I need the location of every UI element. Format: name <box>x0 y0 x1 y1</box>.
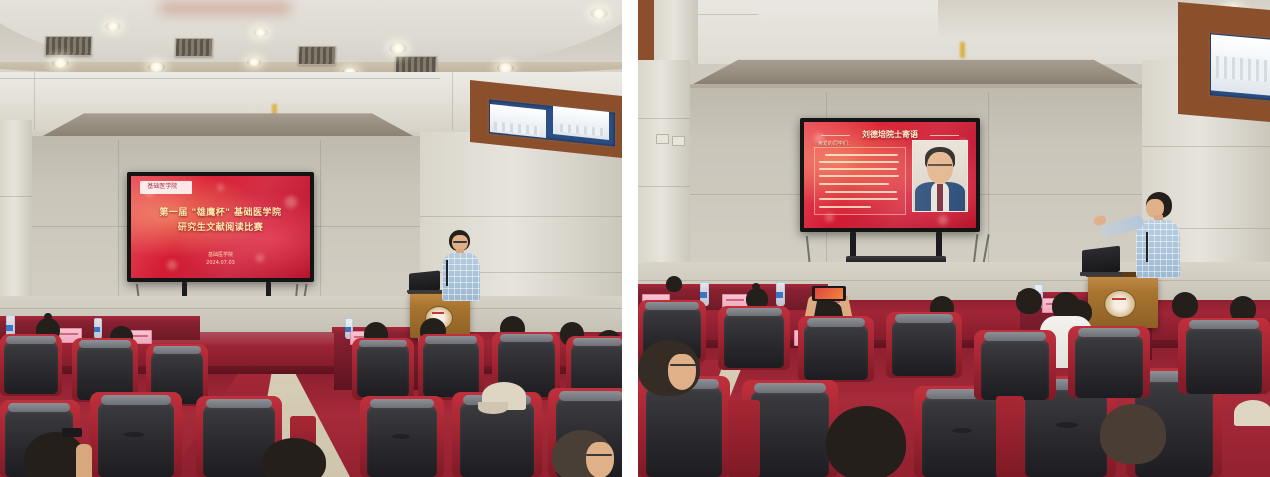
seat <box>974 330 1056 400</box>
ceiling-light <box>247 58 261 66</box>
slide-body-line <box>819 168 897 170</box>
seat <box>1178 318 1270 394</box>
seat-headrest <box>101 395 171 405</box>
photo-left: 基础医学院 第一届 "雄鹰杯" 基础医学院 研究生文献阅读比赛 基础医学院 20… <box>0 0 622 477</box>
slide-body-line <box>825 154 898 156</box>
slide-body-line <box>819 206 871 208</box>
seat-headrest <box>895 314 953 323</box>
slide-body-box <box>814 147 905 215</box>
wall-seam <box>0 78 440 79</box>
seat-back-panel <box>4 342 58 394</box>
seat-headrest <box>573 338 622 346</box>
seat-back-panel <box>1186 328 1262 394</box>
bottle-label <box>94 327 100 332</box>
seat-back-panel <box>922 398 1002 477</box>
seat <box>798 316 874 382</box>
wall-seam-vertical <box>452 72 453 130</box>
bottle-label <box>700 292 707 298</box>
foreground-attendee <box>1100 404 1178 477</box>
portrait-glasses <box>928 164 951 166</box>
wall-outlet <box>656 134 669 144</box>
title-rule-right <box>930 135 959 136</box>
air-vent <box>175 38 214 57</box>
seat-back-panel <box>423 342 479 397</box>
seat-notch <box>952 428 972 433</box>
photo-pair-page: 基础医学院 第一届 "雄鹰杯" 基础医学院 研究生文献阅读比赛 基础医学院 20… <box>0 0 1270 477</box>
alcove-seam-v <box>320 140 321 306</box>
attendee-head <box>1100 404 1166 464</box>
seat-notch <box>1056 422 1078 428</box>
attendee-face <box>586 442 614 477</box>
podium-microphone <box>1146 232 1148 262</box>
photo-gutter <box>622 0 638 477</box>
seat-back-panel <box>357 345 409 397</box>
presentation-screen[interactable]: 基础医学院 第一届 "雄鹰杯" 基础医学院 研究生文献阅读比赛 基础医学院 20… <box>127 172 314 282</box>
seat-headrest <box>8 403 70 412</box>
phone <box>62 428 82 437</box>
foreground-attendee-glasses <box>638 340 716 412</box>
seat-headrest <box>6 336 56 344</box>
seat-back-panel <box>1025 389 1107 477</box>
alcove-seam-v <box>118 140 119 306</box>
seat-headrest <box>425 336 477 344</box>
attendee-head <box>262 438 326 477</box>
seat <box>418 334 484 400</box>
portrait-photo <box>912 140 967 212</box>
seat-headrest <box>1189 320 1259 329</box>
air-vent <box>298 46 337 65</box>
seat <box>718 306 790 370</box>
wall-seam <box>638 118 690 119</box>
seat-back-panel <box>724 314 784 368</box>
foreground-attendee <box>1234 400 1270 477</box>
screen-surface: 基础医学院 第一届 "雄鹰杯" 基础医学院 研究生文献阅读比赛 基础医学院 20… <box>131 176 310 278</box>
seat <box>352 338 414 400</box>
ceiling-light <box>105 22 121 31</box>
ceiling-light <box>389 43 407 54</box>
seat-side-panel <box>996 396 1024 477</box>
wall-seam <box>0 196 32 197</box>
foreground-attendee <box>18 428 114 477</box>
seat-back-panel <box>981 340 1049 400</box>
seat-headrest <box>206 399 272 408</box>
attendee-glasses <box>586 454 612 456</box>
attendee-arm <box>76 444 92 477</box>
seat-headrest <box>370 399 434 408</box>
slide-title-line-2: 研究生文献阅读比赛 <box>131 223 310 234</box>
upper-left-wall <box>654 0 698 64</box>
screen-surface: 刘德培院士寄语 亲爱的同学们： <box>804 122 976 228</box>
wall-seam <box>420 216 622 217</box>
wall-seam-vertical <box>34 72 35 130</box>
portrait-tie <box>937 184 942 211</box>
slide-body-line <box>819 183 889 185</box>
podium-emblem <box>1104 290 1136 318</box>
seat <box>1068 326 1150 398</box>
cap-brim <box>478 402 508 414</box>
slide-body-line <box>819 161 900 163</box>
audience-head <box>666 276 682 292</box>
seat-headrest <box>79 340 131 348</box>
bottle-label <box>776 292 783 298</box>
attendee-head <box>826 406 906 477</box>
audience-head <box>1172 292 1198 318</box>
ceiling-light <box>253 28 268 37</box>
attendee-with-cap <box>478 382 534 436</box>
presenter <box>440 230 486 300</box>
seat-back-panel <box>892 321 956 376</box>
audience-hair-bun <box>44 313 52 320</box>
institution-logo-label: 基础医学院 <box>147 183 177 191</box>
foreground-attendee <box>818 406 928 477</box>
attendee-glasses <box>670 364 696 366</box>
audience-hair-bun <box>752 283 760 290</box>
seat-headrest <box>726 308 782 316</box>
foreground-attendee <box>552 430 622 477</box>
seat-headrest <box>754 383 826 393</box>
seat-back-panel <box>367 406 437 477</box>
cap <box>1234 400 1270 426</box>
seat-headrest <box>1078 328 1140 337</box>
slide-bokeh <box>938 215 948 225</box>
slide-body-line <box>819 198 899 200</box>
slide-organization: 基础医学院 <box>131 252 310 258</box>
window-blind-slats <box>1216 56 1268 83</box>
ceiling-light <box>52 58 69 68</box>
seat-headrest <box>807 318 865 327</box>
attendee-face <box>668 354 696 390</box>
seat-side-panel <box>728 400 760 477</box>
photo-right: 刘德培院士寄语 亲爱的同学们： <box>638 0 1270 477</box>
podium-microphone <box>446 260 448 286</box>
seat-headrest <box>559 391 622 401</box>
ceiling-light <box>590 8 608 19</box>
slide-salutation: 亲爱的同学们： <box>818 141 853 147</box>
slide-body-line <box>819 175 900 177</box>
air-vent <box>45 36 93 56</box>
emblem-detail <box>432 312 444 314</box>
slide-date: 2024.07.03 <box>131 260 310 266</box>
seat-headrest <box>984 332 1046 341</box>
seat-headrest <box>645 302 699 310</box>
presenter-glasses <box>453 241 467 243</box>
emblem-detail <box>1112 298 1126 300</box>
slide-title-line-1: 第一届 "雄鹰杯" 基础医学院 <box>131 208 310 219</box>
foreground-attendee <box>262 438 342 477</box>
presenter <box>1124 192 1194 282</box>
seat-notch <box>392 434 410 439</box>
ceiling-red-reflection <box>160 2 290 14</box>
phone-screen <box>815 288 843 299</box>
portrait-face <box>927 152 953 184</box>
seat <box>360 396 444 477</box>
ceiling-light <box>148 62 165 72</box>
seat <box>0 334 62 396</box>
bottle-label <box>6 325 13 331</box>
presenter-torso <box>1136 220 1180 278</box>
seat-headrest <box>359 340 407 347</box>
laptop-base <box>407 290 442 293</box>
presentation-screen[interactable]: 刘德培院士寄语 亲爱的同学们： <box>800 118 980 232</box>
seat-headrest <box>500 334 553 342</box>
seat-back-panel <box>1075 336 1143 398</box>
laptop-base <box>1080 272 1122 276</box>
seat <box>886 312 962 378</box>
seat-back-panel <box>804 325 868 380</box>
slide-bokeh <box>285 196 297 208</box>
wall-yellow-mark <box>960 42 965 58</box>
wall-seam <box>1142 146 1270 147</box>
slide-bokeh <box>217 184 224 191</box>
seat-notch <box>124 432 144 437</box>
wall-outlet <box>672 136 685 146</box>
seat-headrest <box>153 346 201 354</box>
slide-body-line <box>825 191 897 193</box>
wall-seam <box>638 186 690 187</box>
wall-seam <box>0 308 622 309</box>
